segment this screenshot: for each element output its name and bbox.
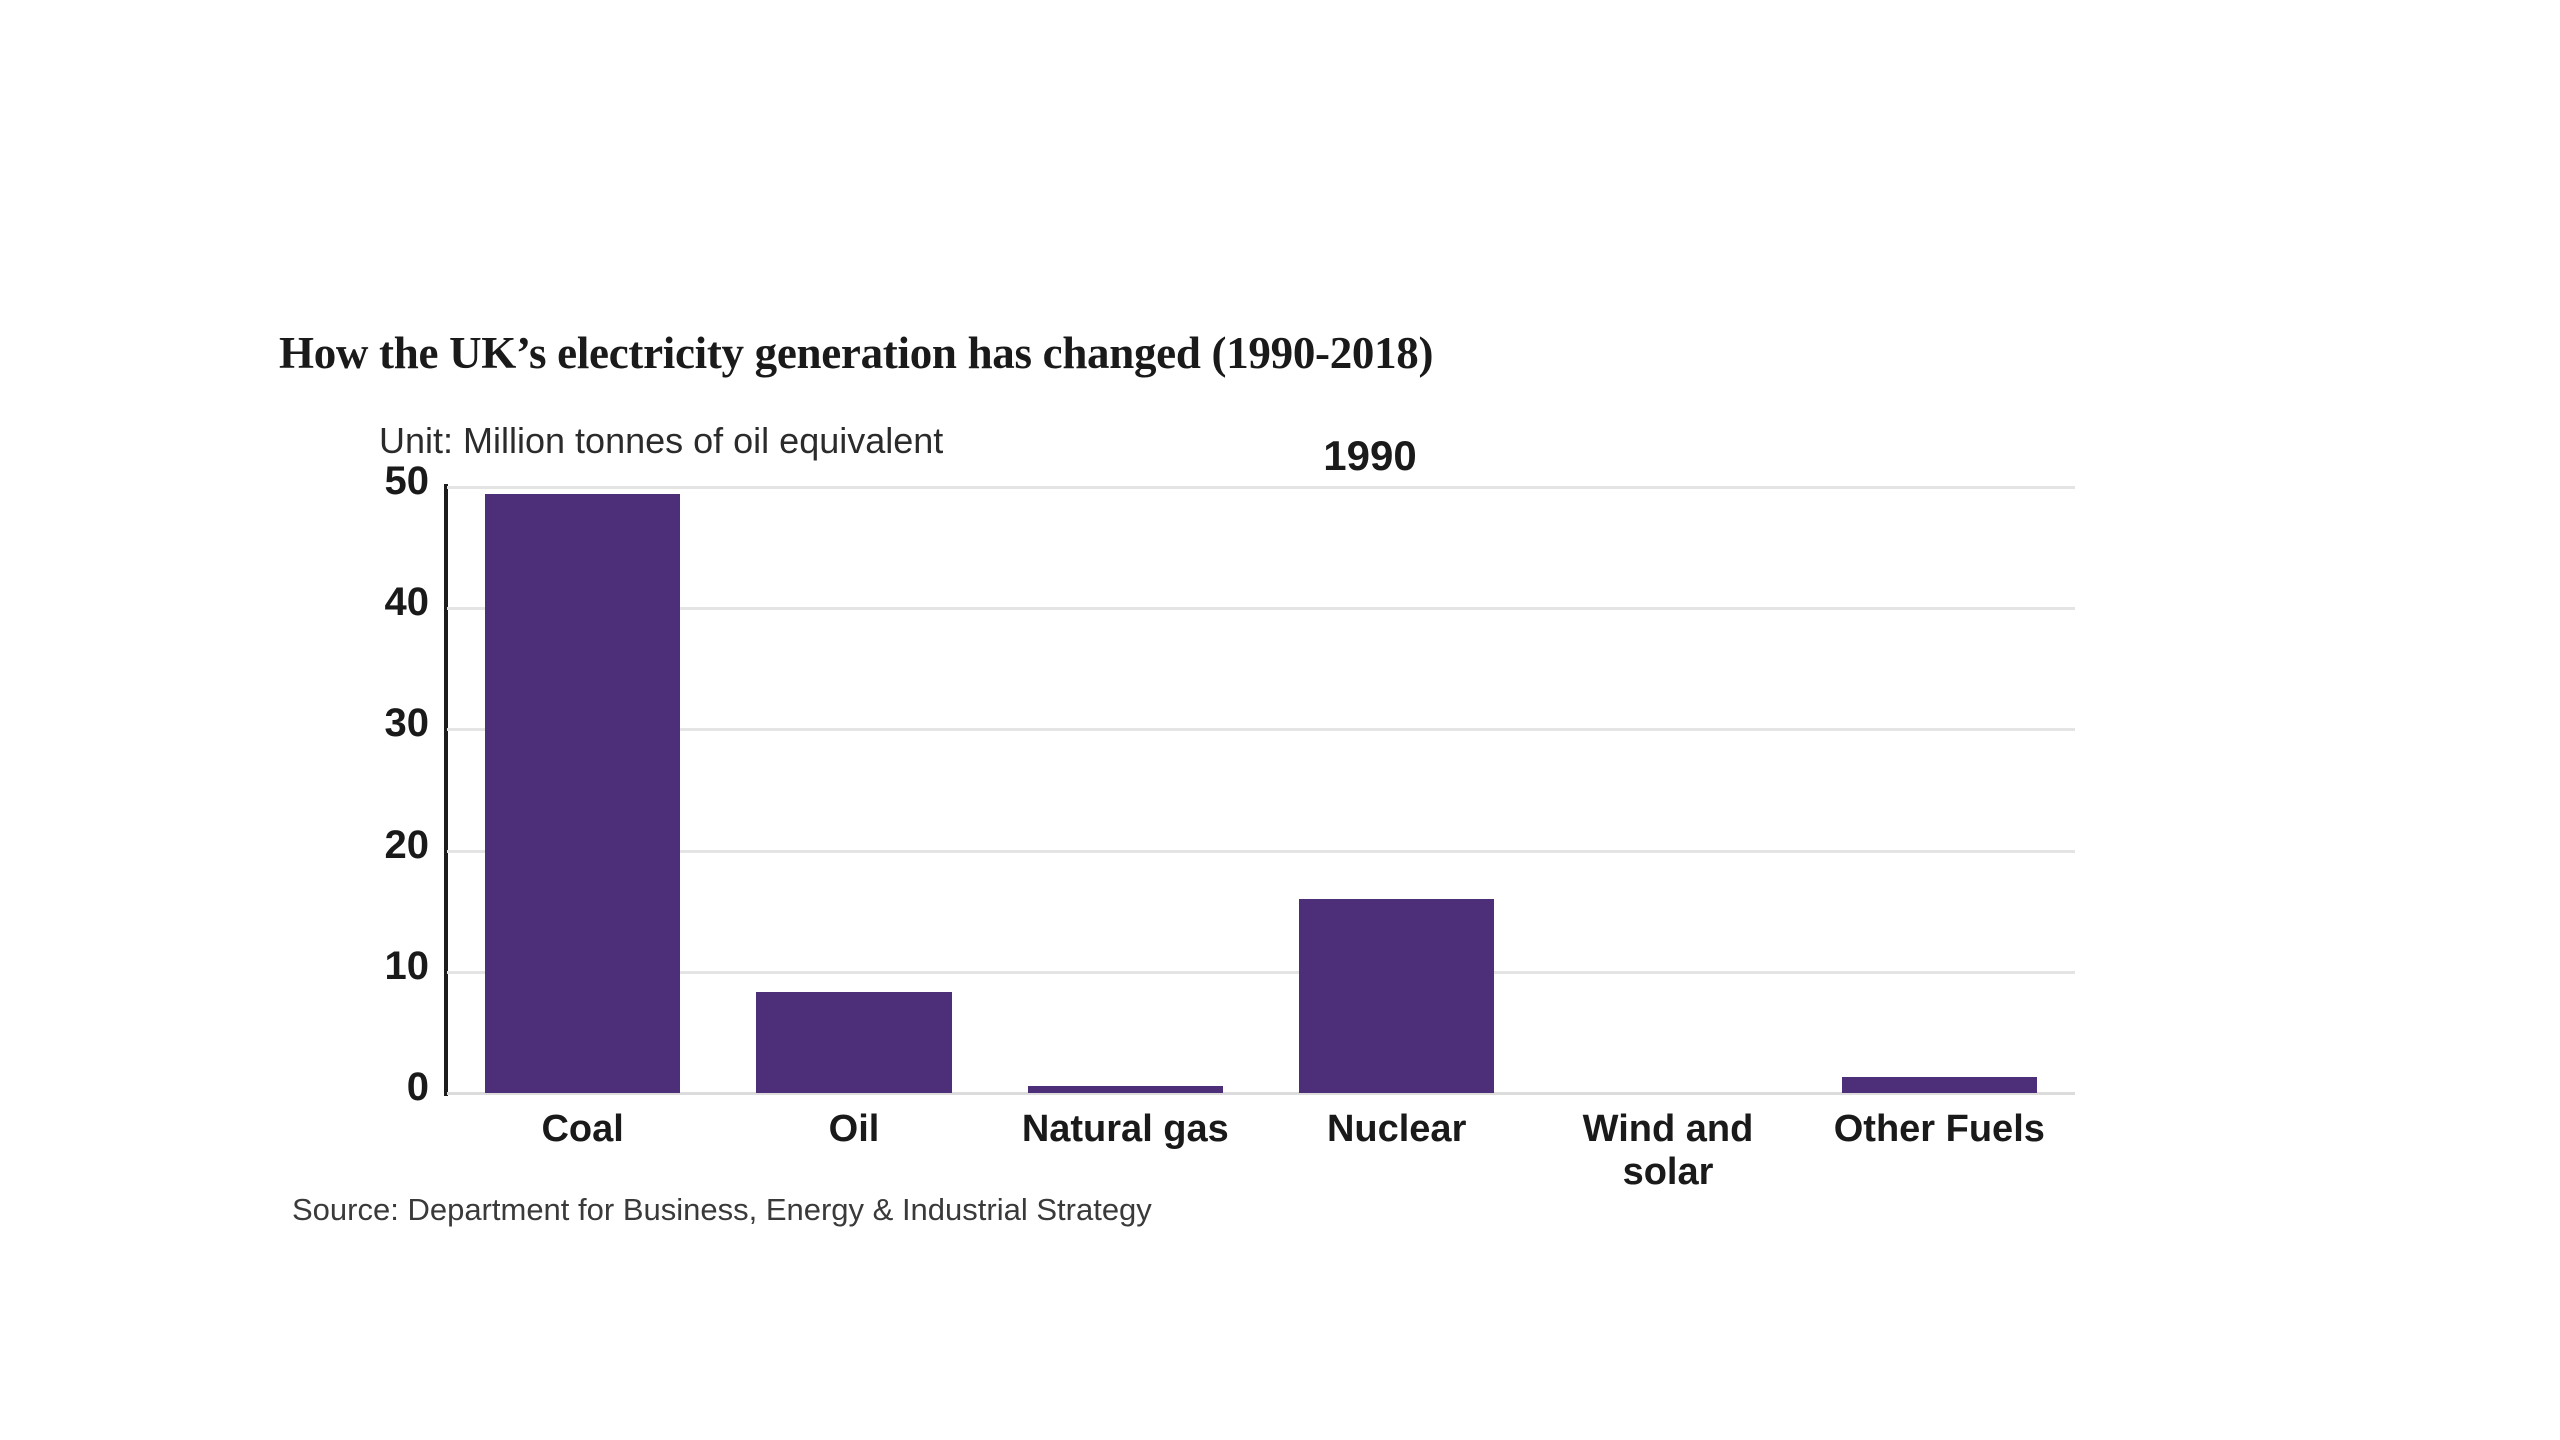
x-axis-tick-label: Nuclear [1261, 1108, 1532, 1151]
gridline [447, 486, 2075, 489]
chart-unit-subtitle: Unit: Million tonnes of oil equivalent [379, 420, 943, 462]
gridline [447, 728, 2075, 731]
x-axis-tick-label: Coal [447, 1108, 718, 1151]
y-axis-tick-label: 0 [309, 1065, 429, 1110]
chart-canvas: How the UK’s electricity generation has … [0, 0, 2560, 1440]
gridline [447, 971, 2075, 974]
year-label: 1990 [1180, 432, 1560, 480]
bar[interactable] [756, 992, 951, 1093]
gridline [447, 607, 2075, 610]
bar[interactable] [1842, 1077, 2037, 1093]
y-axis-tick-label: 20 [309, 823, 429, 868]
source-note: Source: Department for Business, Energy … [292, 1192, 1152, 1228]
y-axis-tick-label: 30 [309, 701, 429, 746]
bar[interactable] [485, 494, 680, 1093]
x-axis-tick-label: Wind and solar [1532, 1108, 1803, 1193]
bar[interactable] [1299, 899, 1494, 1093]
x-axis-tick-label: Natural gas [990, 1108, 1261, 1151]
plot-area [447, 487, 2075, 1093]
y-axis-tick-label: 50 [309, 459, 429, 504]
gridline [447, 850, 2075, 853]
x-axis-tick-label: Oil [718, 1108, 989, 1151]
x-axis-tick-label: Other Fuels [1804, 1108, 2075, 1151]
y-axis-tick-label: 40 [309, 580, 429, 625]
y-axis-tick-label: 10 [309, 944, 429, 989]
bar[interactable] [1028, 1086, 1223, 1093]
gridline [447, 1092, 2075, 1095]
page-title: How the UK’s electricity generation has … [279, 327, 1433, 379]
